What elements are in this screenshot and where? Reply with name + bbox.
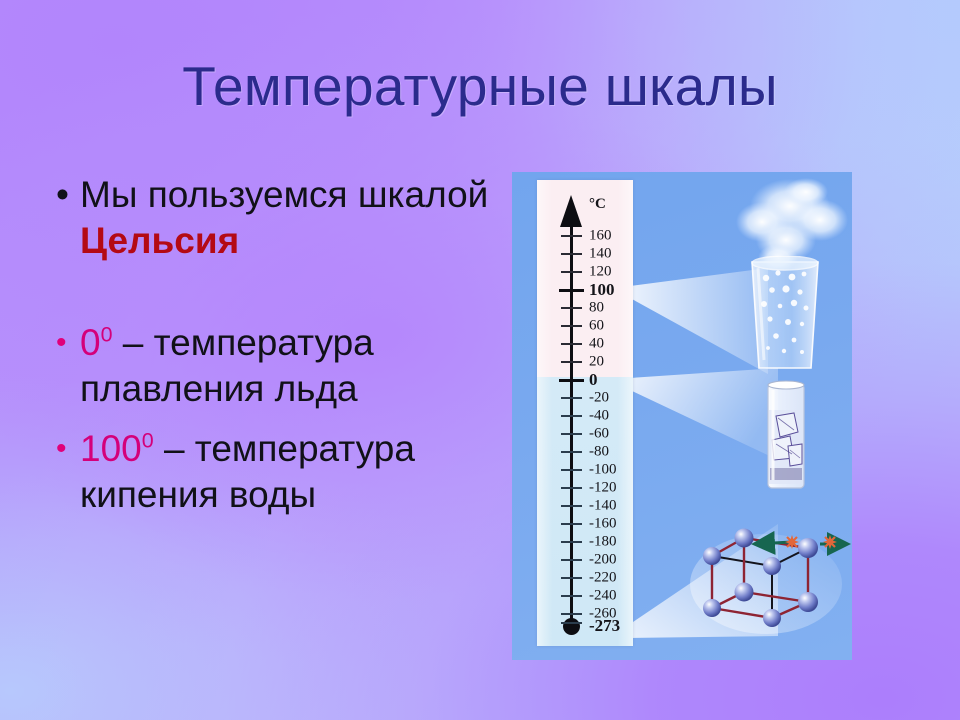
scale-tick (561, 343, 582, 345)
scale-label: -200 (589, 552, 617, 569)
spacer (42, 264, 494, 320)
bullet-marker-icon: • (42, 426, 80, 472)
boiling-water-glass-icon (744, 256, 826, 374)
scale-label: 100 (589, 280, 615, 300)
scale-label: -220 (589, 570, 617, 587)
scale-tick (561, 451, 582, 453)
slide: Температурные шкалы • Мы пользуемся шкал… (0, 0, 960, 720)
bullet-marker-icon: • (42, 172, 80, 218)
scale-label: 140 (589, 246, 612, 263)
scale-label: -60 (589, 426, 609, 443)
scale-tick (561, 415, 582, 417)
list-item-text: 00 – температура плавления льда (80, 320, 494, 412)
scale-tick (561, 622, 582, 624)
scale-label: -240 (589, 588, 617, 605)
scale-tick (561, 253, 582, 255)
scale-tick (561, 595, 582, 597)
scale-tick (561, 235, 582, 237)
scale-tick (561, 469, 582, 471)
scale-label: 40 (589, 336, 604, 353)
temperature-unit-label: °C (589, 196, 606, 213)
scale-label: -40 (589, 408, 609, 425)
scale-tick (561, 523, 582, 525)
scale-tick (561, 613, 582, 615)
scale-label: -273 (589, 616, 620, 636)
scale-tick (561, 559, 582, 561)
thermometer-stem (570, 222, 573, 626)
crystal-lattice-icon (680, 522, 852, 638)
bullet-2-rest: – температура плавления льда (80, 322, 374, 409)
scale-tick (559, 379, 584, 382)
bullet-3-value: 100 (80, 428, 142, 469)
scale-tick (561, 505, 582, 507)
bullet-1-highlight: Цельсия (80, 220, 239, 261)
scale-tick (559, 289, 584, 292)
scale-tick (561, 397, 582, 399)
scale-label: -160 (589, 516, 617, 533)
scale-tick (561, 271, 582, 273)
scale-tick (561, 361, 582, 363)
scale-label: -140 (589, 498, 617, 515)
degree-sign-icon: 0 (101, 323, 113, 347)
list-item-text: 1000 – температура кипения воды (80, 426, 494, 518)
scale-label: 60 (589, 318, 604, 335)
scale-tick (561, 433, 582, 435)
thermometer-illustration-panel: °C 160140120100806040200-20-40-60-80-100… (512, 172, 852, 660)
list-item: • 1000 – температура кипения воды (42, 426, 494, 518)
card-edge-highlight (537, 180, 633, 646)
list-item-text: Мы пользуемся шкалой Цельсия (80, 172, 494, 264)
scale-label: 80 (589, 300, 604, 317)
scale-label: -80 (589, 444, 609, 461)
thermometer-scale-card: °C 160140120100806040200-20-40-60-80-100… (537, 180, 633, 646)
slide-title: Температурные шкалы (0, 54, 960, 118)
scale-label: -120 (589, 480, 617, 497)
scale-label: 0 (589, 370, 598, 390)
bullet-2-value: 0 (80, 322, 101, 363)
bullet-marker-icon: • (42, 320, 80, 366)
bullet-1-lead: Мы пользуемся шкалой (80, 174, 488, 215)
scale-label: -100 (589, 462, 617, 479)
list-item: • Мы пользуемся шкалой Цельсия (42, 172, 494, 264)
scale-label: 160 (589, 228, 612, 245)
spacer (42, 412, 494, 426)
scale-label: 120 (589, 264, 612, 281)
ice-water-glass-icon (764, 380, 808, 492)
bullet-list: • Мы пользуемся шкалой Цельсия • 00 – те… (42, 172, 494, 518)
scale-tick (561, 577, 582, 579)
scale-tick (561, 307, 582, 309)
connector-cone-ice (630, 368, 780, 488)
thermometer-bulb-icon (563, 618, 580, 635)
list-item: • 00 – температура плавления льда (42, 320, 494, 412)
scale-label: -180 (589, 534, 617, 551)
scale-label: -20 (589, 390, 609, 407)
scale-label: 20 (589, 354, 604, 371)
degree-sign-icon: 0 (142, 429, 154, 453)
scale-tick (561, 325, 582, 327)
scale-tick (561, 541, 582, 543)
scale-tick (561, 487, 582, 489)
